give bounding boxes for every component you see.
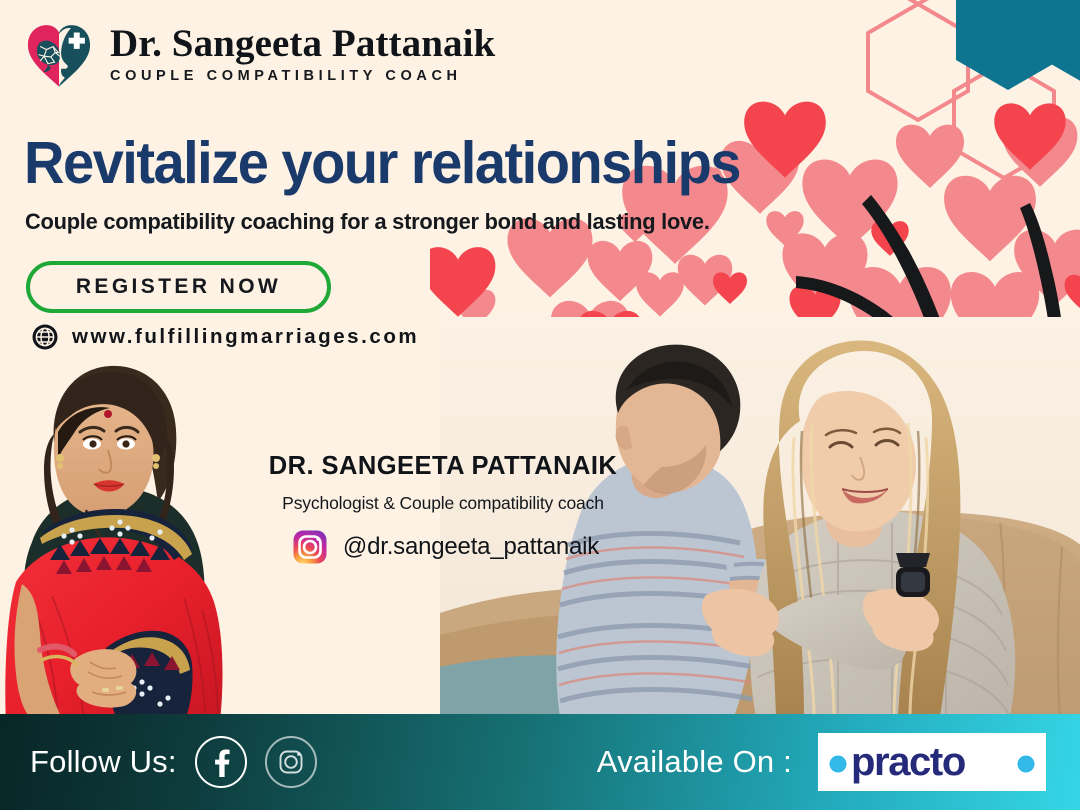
hexagon-decoration	[800, 0, 1080, 200]
practo-logo[interactable]: practo	[818, 733, 1046, 791]
website-link[interactable]: www.fulfillingmarriages.com	[32, 324, 419, 350]
svg-text:practo: practo	[851, 740, 965, 784]
available-on-group: Available On : practo	[597, 733, 1046, 791]
profile-card: DR. SANGEETA PATTANAIK Psychologist & Co…	[233, 452, 653, 564]
brand-name: Dr. Sangeeta Pattanaik	[110, 24, 495, 65]
instagram-icon	[293, 530, 327, 564]
facebook-button[interactable]	[195, 736, 247, 788]
instagram-link[interactable]: @dr.sangeeta_pattanaik	[287, 530, 599, 564]
facebook-icon	[206, 747, 236, 777]
doctor-portrait	[0, 352, 230, 722]
website-url: www.fulfillingmarriages.com	[72, 325, 419, 349]
instagram-outline-icon	[276, 747, 306, 777]
profile-role: Psychologist & Couple compatibility coac…	[282, 493, 604, 514]
heart-brain-medical-cross-icon	[22, 18, 96, 90]
marketing-poster: Dr. Sangeeta Pattanaik COUPLE COMPATIBIL…	[0, 0, 1080, 810]
follow-us-label: Follow Us:	[30, 744, 177, 780]
profile-name: DR. SANGEETA PATTANAIK	[269, 452, 617, 481]
footer-bar: Follow Us: Available On : practo	[0, 714, 1080, 810]
globe-icon	[32, 324, 58, 350]
register-now-button[interactable]: REGISTER NOW	[26, 261, 331, 313]
instagram-handle: @dr.sangeeta_pattanaik	[343, 533, 599, 561]
subheadline: Couple compatibility coaching for a stro…	[25, 209, 710, 235]
available-on-label: Available On :	[597, 744, 792, 780]
headline: Revitalize your relationships	[24, 133, 740, 193]
register-now-label: REGISTER NOW	[76, 275, 281, 299]
brand-tagline: COUPLE COMPATIBILITY COACH	[110, 68, 495, 84]
brand-logo[interactable]: Dr. Sangeeta Pattanaik COUPLE COMPATIBIL…	[22, 18, 495, 90]
instagram-button[interactable]	[265, 736, 317, 788]
follow-us-group: Follow Us:	[30, 736, 317, 788]
